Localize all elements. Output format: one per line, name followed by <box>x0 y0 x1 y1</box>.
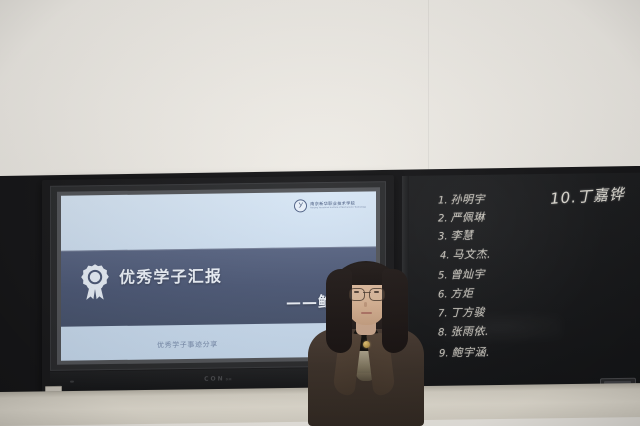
school-logo-wordmark: 南京新华职业技术学院 Nanjing Vocational Institute … <box>310 201 366 209</box>
list-item: 1. 孙明宇 <box>438 191 491 208</box>
list-item-name: 丁方骏 <box>451 304 486 320</box>
school-logo: У 南京新华职业技术学院 Nanjing Vocational Institut… <box>294 198 366 212</box>
list-item-number: 4. <box>440 250 450 261</box>
list-item-number: 1. <box>438 195 448 206</box>
award-ribbon-icon <box>80 263 110 301</box>
glasses-lens-right <box>369 288 385 301</box>
necklace-pendant <box>363 341 370 348</box>
slide-title: 优秀学子汇报 <box>119 262 222 287</box>
list-item-number: 9. <box>439 348 449 359</box>
list-item-number: 3. <box>438 231 448 242</box>
list-item-name: 张雨依. <box>451 323 490 340</box>
list-item-name: 孙明宇 <box>451 191 486 207</box>
presenter <box>306 255 426 426</box>
list-item-number: 8. <box>438 327 448 338</box>
school-logo-mark: У <box>294 199 307 212</box>
list-item-name: 马文杰. <box>453 246 492 263</box>
list-item-number: 2. <box>438 213 448 224</box>
list-item-number: 6. <box>438 289 448 300</box>
list-item-number: 5. <box>438 270 448 281</box>
list-item-name: 曾灿宇 <box>451 266 486 282</box>
list-item-number: 7. <box>438 308 448 319</box>
list-item: 4. 马文杰. <box>440 246 491 263</box>
chalk-name-list: 1. 孙明宇 2. 严佩琳 3. 李慧 4. 马文杰. 5. 曾灿宇 6. 方炬 <box>438 191 491 361</box>
list-item-name: 李慧 <box>451 227 474 243</box>
slide-footer-text: 优秀学子事迹分享 <box>157 340 218 351</box>
list-item: 8. 张雨依. <box>438 323 491 340</box>
list-item: 2. 严佩琳 <box>438 209 491 226</box>
display-brand-name: CON <box>204 375 225 382</box>
list-item: 9. 鲍宇涵. <box>439 344 491 361</box>
classroom-scene: 10.丁嘉铧 1. 孙明宇 2. 严佩琳 3. 李慧 4. 马文杰. 5. 曾灿… <box>0 0 640 426</box>
mouth <box>361 312 372 314</box>
upper-wall <box>0 0 640 190</box>
list-item-name: 严佩琳 <box>451 209 486 225</box>
school-name-cn: 南京新华职业技术学院 <box>310 201 366 206</box>
display-brand-logo: CON DM <box>204 375 232 382</box>
list-item: 5. 曾灿宇 <box>438 266 491 283</box>
display-brand-suffix: DM <box>226 377 232 381</box>
list-item-name: 方炬 <box>451 285 474 301</box>
nose <box>364 302 367 307</box>
blackboard: 10.丁嘉铧 1. 孙明宇 2. 严佩琳 3. 李慧 4. 马文杰. 5. 曾灿… <box>402 173 640 394</box>
glasses-icon <box>349 288 385 299</box>
glasses-lens-left <box>349 288 365 301</box>
list-item: 7. 丁方骏 <box>438 304 491 321</box>
wall-seam <box>428 0 429 186</box>
ir-sensor-icon <box>70 381 74 383</box>
list-item: 3. 李慧 <box>438 227 491 244</box>
chalk-heading: 10.丁嘉铧 <box>550 183 626 209</box>
school-name-en: Nanjing Vocational Institute of Mechatro… <box>310 207 366 210</box>
hair-left <box>326 269 352 353</box>
list-item-name: 鲍宇涵. <box>452 344 491 361</box>
hair-right <box>382 269 408 353</box>
list-item: 6. 方炬 <box>438 285 491 302</box>
